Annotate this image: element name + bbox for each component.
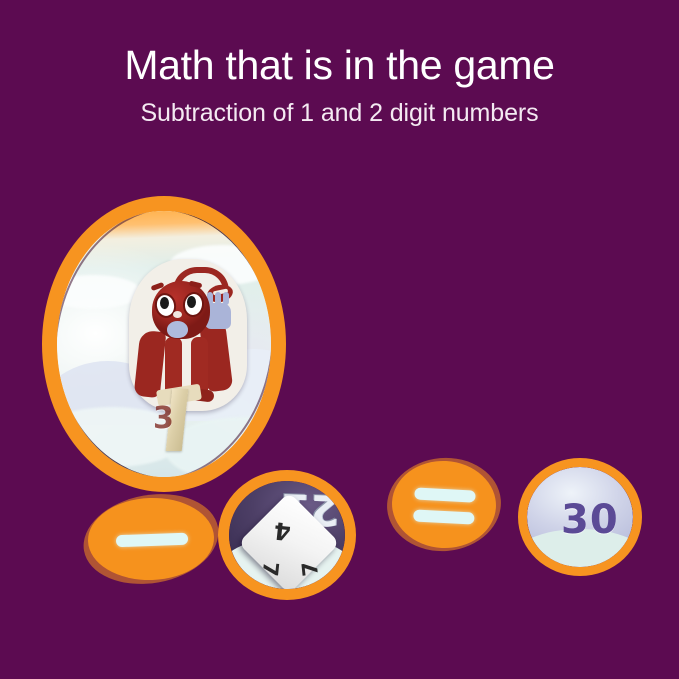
result-photo: 30 bbox=[527, 467, 633, 567]
equals-operator-blob bbox=[390, 458, 498, 550]
die-photo: 21 4 7 7 bbox=[229, 481, 345, 589]
board-number-top: 3 bbox=[153, 401, 174, 436]
monster-finger bbox=[223, 292, 229, 305]
page-subtitle: Subtraction of 1 and 2 digit numbers bbox=[0, 100, 679, 128]
die-top-face-value: 4 bbox=[273, 516, 293, 546]
minus-operator-blob bbox=[87, 496, 216, 582]
die-lower-right-face-value: 7 bbox=[298, 560, 323, 577]
minus-sign-icon bbox=[116, 533, 188, 548]
die-lower-left-face-value: 7 bbox=[258, 560, 283, 577]
result-value: 30 bbox=[561, 497, 619, 543]
page-title: Math that is in the game bbox=[0, 44, 679, 87]
game-board-circle: 3 4 3 34 bbox=[42, 196, 286, 492]
monster-pupil-left bbox=[160, 297, 169, 309]
die-circle: 21 4 7 7 bbox=[218, 470, 356, 600]
monster-mouth bbox=[167, 321, 188, 338]
game-board-photo: 3 4 3 34 bbox=[57, 211, 271, 477]
result-circle: 30 bbox=[518, 458, 642, 576]
monster-nose bbox=[173, 311, 182, 318]
equals-sign-icon bbox=[413, 509, 475, 524]
monster-pupil-right bbox=[187, 296, 196, 308]
equals-sign-icon bbox=[414, 487, 476, 502]
monster-finger bbox=[215, 292, 221, 305]
poster-root: Math that is in the game Subtraction of … bbox=[0, 0, 679, 679]
